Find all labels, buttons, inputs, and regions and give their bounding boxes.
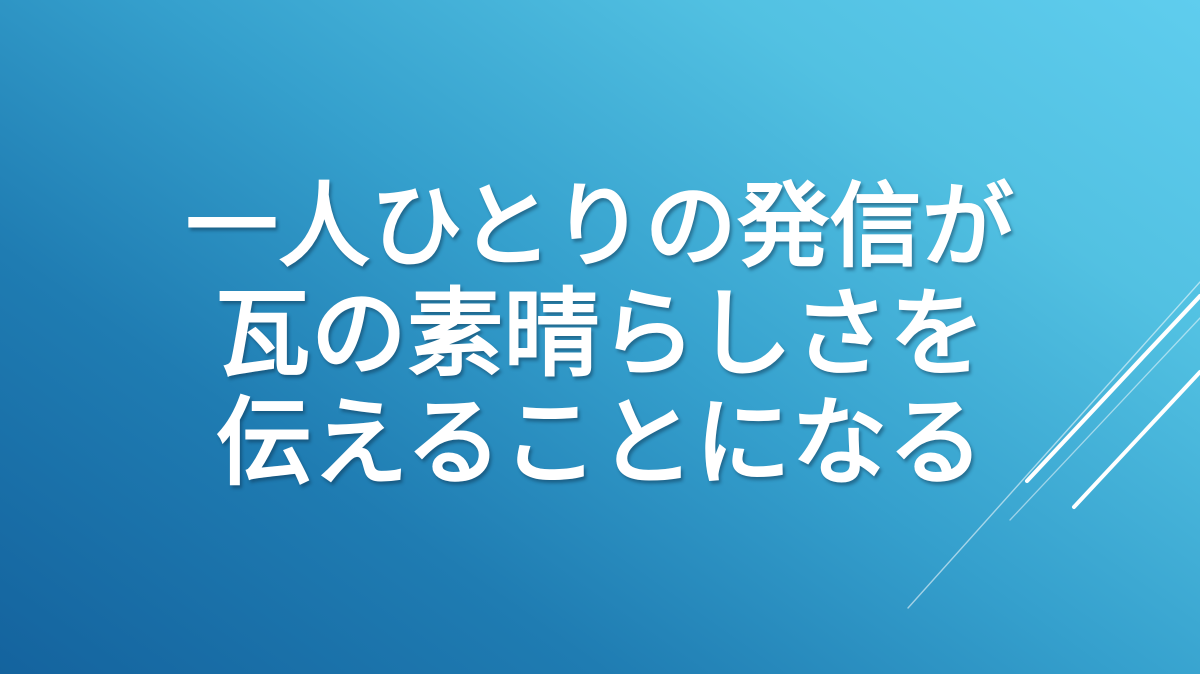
headline-line-2: 瓦の素晴らしさを [214, 280, 985, 389]
headline-text-block: 一人ひとりの発信が 瓦の素晴らしさを 伝えることになる [0, 0, 1200, 674]
slide-canvas: 一人ひとりの発信が 瓦の素晴らしさを 伝えることになる [0, 0, 1200, 674]
headline-line-3: 伝えることになる [216, 389, 984, 498]
headline-line-1: 一人ひとりの発信が [186, 175, 1015, 280]
